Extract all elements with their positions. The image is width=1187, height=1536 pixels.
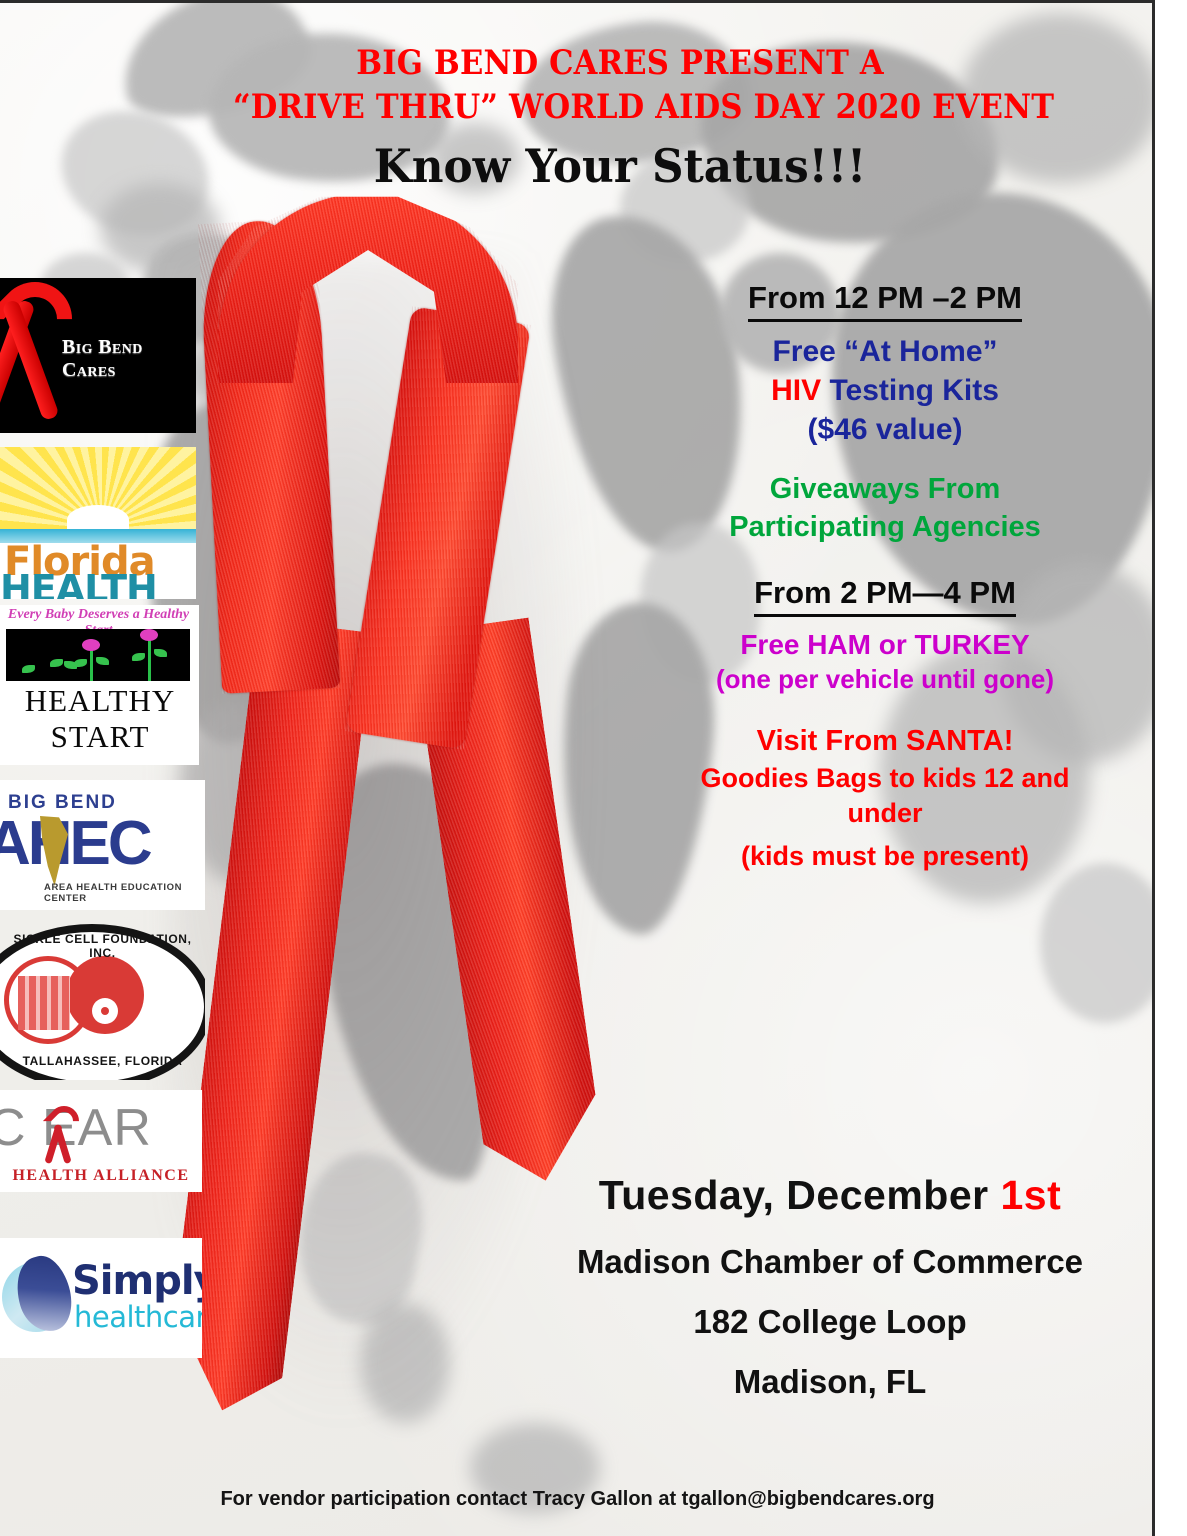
headline-subtitle: Know Your Status!!! [212,139,1029,194]
logo-big-bend-cares-wordmark: Big Bend Cares [62,336,196,382]
santa-line-4: (kids must be present) [650,839,1120,874]
santa-line-1: Visit From SANTA! [650,723,1120,761]
hiv-label: HIV [771,374,821,407]
vendor-contact-footer: For vendor participation contact Tracy G… [0,1488,1155,1511]
world-aids-day-flyer: BIG BEND CARES PRESENT A “DRIVE THRU” WO… [0,0,1187,1536]
venue-block: Tuesday, December 1st Madison Chamber of… [510,1172,1150,1423]
venue-city-state: Madison, FL [510,1363,1150,1401]
santa-line-2: Goodies Bags to kids 12 and [650,761,1120,796]
event-details-column: From 12 PM –2 PM Free “At Home” HIV Test… [650,278,1120,900]
logo-healthy-start: Every Baby Deserves a Healthy Start HEAL… [0,605,199,765]
event-date-ordinal: 1st [1000,1172,1061,1218]
event-date-text: Tuesday, December [599,1172,1001,1218]
giveaways-line-2: Participating Agencies [650,509,1120,547]
logo-simply-healthcare: Simply healthcare [0,1238,202,1358]
swirl-s-mark-icon [2,1256,74,1338]
giveaways-block: Giveaways From Participating Agencies [650,471,1120,546]
giveaways-line-1: Giveaways From [650,471,1120,509]
food-offer-line-1: Free HAM or TURKEY [650,627,1120,663]
logo-sickle-cell-arc-top: SICKLE CELL FOUNDATION, INC. [0,932,205,960]
santa-block: Visit From SANTA! Goodies Bags to kids 1… [650,723,1120,874]
session-one-block: From 12 PM –2 PM Free “At Home” HIV Test… [650,278,1120,449]
event-date: Tuesday, December 1st [510,1172,1150,1219]
red-ribbon-letter-l-icon [40,1106,74,1164]
logo-florida-health: Florida HEALTH [0,447,196,599]
flowers-sprouting-icon [6,629,190,681]
logo-big-bend-cares: Big Bend Cares [0,278,196,433]
session-one-value: ($46 value) [650,410,1120,449]
red-aids-ribbon-heart-icon [0,282,56,430]
food-offer-line-2: (one per vehicle until gone) [650,663,1120,697]
logo-clear-subtitle: HEALTH ALLIANCE [0,1167,202,1185]
logo-ahec-acronym: AHEC [0,808,150,879]
headline-line-1: BIG BEND CARES PRESENT A [233,42,1007,86]
logo-simply-word-top: Simply [72,1258,202,1304]
headline-block: BIG BEND CARES PRESENT A “DRIVE THRU” WO… [190,42,1050,194]
headline-line-2: “DRIVE THRU” WORLD AIDS DAY 2020 EVENT [233,86,1007,130]
session-one-offer-line-1: Free “At Home” [650,332,1120,371]
logo-clear-health-alliance: C EAR HEALTH ALLIANCE [0,1090,202,1192]
testing-kits-label: Testing Kits [821,374,999,407]
logo-sickle-cell-foundation: SICKLE CELL FOUNDATION, INC. TALLAHASSEE… [0,920,205,1080]
logo-ahec-subtitle: AREA HEALTH EDUCATION CENTER [44,882,205,904]
venue-name: Madison Chamber of Commerce [510,1243,1150,1281]
logo-healthy-start-word-top: HEALTHY [8,683,192,719]
logo-sickle-cell-arc-bottom: TALLAHASSEE, FLORIDA [0,1054,205,1068]
logo-florida-health-word-bottom: HEALTH [0,567,157,599]
session-one-offer-line-2: HIV Testing Kits [650,371,1120,410]
session-two-block: From 2 PM—4 PM Free HAM or TURKEY (one p… [650,573,1120,697]
logo-healthy-start-word-bottom: START [8,719,192,755]
venue-street: 182 College Loop [510,1303,1150,1341]
logo-big-bend-ahec: BIG BEND AHEC AREA HEALTH EDUCATION CENT… [0,780,205,910]
santa-line-3: under [650,796,1120,831]
session-one-time: From 12 PM –2 PM [748,278,1022,322]
logo-simply-word-bottom: healthcare [74,1300,202,1334]
session-two-time: From 2 PM—4 PM [754,573,1016,617]
